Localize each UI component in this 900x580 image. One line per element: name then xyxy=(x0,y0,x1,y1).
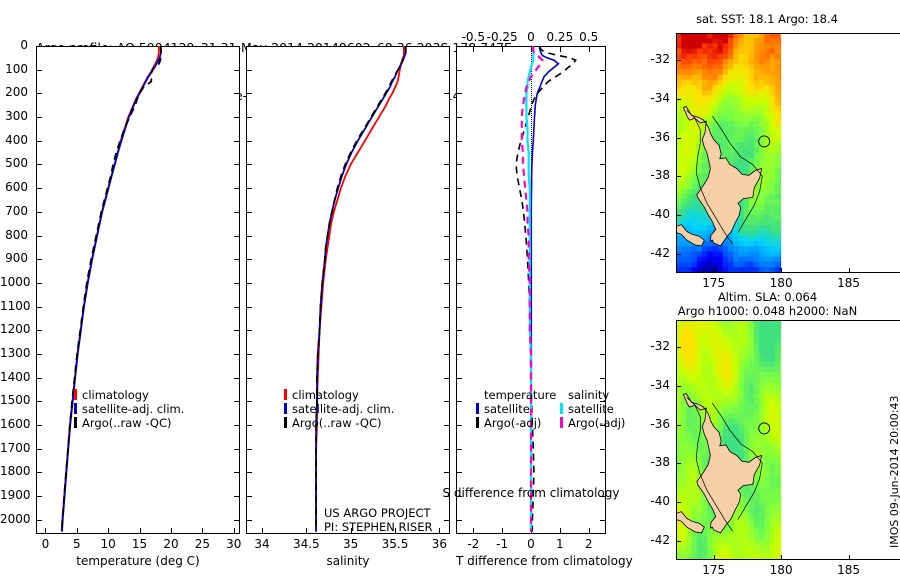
map-lat-tick xyxy=(676,502,681,503)
salinity-axis-label: salinity xyxy=(246,554,450,568)
legend-color-swatch xyxy=(284,389,287,400)
depth-tick-label: 1300 xyxy=(0,346,28,360)
map-lat-label: -42 xyxy=(640,246,670,260)
legend-color-swatch xyxy=(284,403,287,414)
legend-item-label: satellite-adj. clim. xyxy=(82,402,184,416)
map-lon-label: 180 xyxy=(756,563,806,577)
depth-tick-label: 700 xyxy=(0,204,28,218)
map-lat-label: -36 xyxy=(640,417,670,431)
legend-color-swatch xyxy=(74,389,77,400)
map-lat-tick xyxy=(676,99,681,100)
map-lat-tick xyxy=(676,254,681,255)
legend-item: Argo(..raw -QC) xyxy=(284,416,394,430)
legend-item-label: Argo(..raw -QC) xyxy=(82,416,172,430)
depth-tick-label: 900 xyxy=(0,251,28,265)
salinity-argo-line xyxy=(246,46,450,534)
legend-color-swatch xyxy=(476,417,479,428)
depth-tick-label: 1500 xyxy=(0,393,28,407)
map-lat-label: -34 xyxy=(640,378,670,392)
map-lat-tick xyxy=(676,176,681,177)
tdiff-axis-label: T difference from climatology xyxy=(456,554,606,568)
legend-item-label: Argo(-adj) xyxy=(568,416,625,430)
depth-tick-label: 200 xyxy=(0,85,28,99)
x-tick-label: 0.5 xyxy=(559,30,619,44)
map-lat-tick xyxy=(676,541,681,542)
legend-item: climatology xyxy=(74,388,184,402)
map-lat-label: -38 xyxy=(640,168,670,182)
map-lat-tick xyxy=(676,347,681,348)
map-lat-tick xyxy=(676,425,681,426)
map-lat-label: -40 xyxy=(640,494,670,508)
map-lon-label: 180 xyxy=(756,276,806,290)
footer-line-2: PI: STEPHEN RISER xyxy=(324,520,433,534)
map-lon-label: 175 xyxy=(689,276,739,290)
depth-tick-label: 1800 xyxy=(0,464,28,478)
map-lat-label: -36 xyxy=(640,130,670,144)
depth-tick-label: 300 xyxy=(0,109,28,123)
map-lat-tick xyxy=(676,138,681,139)
legend-item-label: satellite-adj. clim. xyxy=(292,402,394,416)
argo-project-footer: US ARGO PROJECTPI: STEPHEN RISER xyxy=(324,506,433,534)
map-lon-tick xyxy=(849,268,850,273)
map-lat-tick xyxy=(676,215,681,216)
depth-tick-label: 1400 xyxy=(0,370,28,384)
legend-item-label: Argo(..raw -QC) xyxy=(292,416,382,430)
legend-color-swatch xyxy=(74,417,77,428)
sst-map-frame xyxy=(676,33,900,273)
map-lat-label: -42 xyxy=(640,533,670,547)
map-lon-label: 185 xyxy=(824,276,874,290)
map-lon-label: 175 xyxy=(689,563,739,577)
map-lat-tick xyxy=(676,386,681,387)
legend-item: satellite-adj. clim. xyxy=(74,402,184,416)
footer-line-1: US ARGO PROJECT xyxy=(324,506,433,520)
map-lon-tick xyxy=(781,268,782,273)
difference-legend-column: salinitysatelliteArgo(-adj) xyxy=(560,388,625,430)
depth-tick-label: 1000 xyxy=(0,275,28,289)
map-lat-label: -32 xyxy=(640,52,670,66)
depth-tick-label: 1100 xyxy=(0,299,28,313)
legend-color-swatch xyxy=(560,417,563,428)
temperature-legend: climatologysatellite-adj. clim.Argo(..ra… xyxy=(74,388,184,430)
map-lon-tick xyxy=(714,555,715,560)
legend-item: satellite xyxy=(476,402,556,416)
map-lon-label: 185 xyxy=(824,563,874,577)
sla-map-title: Altim. SLA: 0.064 Argo h1000: 0.048 h200… xyxy=(660,290,875,318)
map-lat-label: -32 xyxy=(640,339,670,353)
legend-color-swatch xyxy=(284,417,287,428)
legend-item: satellite-adj. clim. xyxy=(284,402,394,416)
legend-item: Argo(..raw -QC) xyxy=(74,416,184,430)
legend-column-header: salinity xyxy=(568,388,625,402)
map-lon-tick xyxy=(849,555,850,560)
map-lat-tick xyxy=(676,463,681,464)
legend-column-header: temperature xyxy=(484,388,556,402)
map-lat-label: -34 xyxy=(640,91,670,105)
depth-tick-label: 500 xyxy=(0,156,28,170)
temperature-axis-label: temperature (deg C) xyxy=(36,554,240,568)
depth-tick-label: 1200 xyxy=(0,322,28,336)
depth-tick-label: 800 xyxy=(0,228,28,242)
map-lon-tick xyxy=(714,268,715,273)
legend-item-label: Argo(-adj) xyxy=(484,416,541,430)
sla-map-frame xyxy=(676,320,900,560)
depth-tick-label: 1600 xyxy=(0,417,28,431)
legend-item: satellite xyxy=(560,402,625,416)
imos-credit: IMOS 09-Jun-2014 20:00:43 xyxy=(888,395,900,548)
map-lon-tick xyxy=(781,555,782,560)
legend-item-label: climatology xyxy=(292,388,359,402)
legend-item-label: satellite xyxy=(484,402,530,416)
x-tick-label: 2 xyxy=(559,537,619,551)
temperature-argo-line xyxy=(36,46,240,534)
legend-color-swatch xyxy=(560,403,563,414)
legend-item: climatology xyxy=(284,388,394,402)
depth-tick-label: 1700 xyxy=(0,441,28,455)
map-lat-tick xyxy=(676,60,681,61)
depth-tick-label: 100 xyxy=(0,62,28,76)
depth-tick-label: 600 xyxy=(0,180,28,194)
depth-tick-label: 0 xyxy=(0,38,28,52)
sdiff-argo-line xyxy=(456,46,606,534)
legend-color-swatch xyxy=(476,403,479,414)
legend-color-swatch xyxy=(74,403,77,414)
sst-map-title: sat. SST: 18.1 Argo: 18.4 xyxy=(672,12,862,26)
depth-tick-label: 400 xyxy=(0,133,28,147)
depth-tick-label: 2000 xyxy=(0,512,28,526)
sdiff-axis-label: S difference from climatology xyxy=(424,486,638,500)
legend-item-label: satellite xyxy=(568,402,614,416)
legend-item-label: climatology xyxy=(82,388,149,402)
legend-item: Argo(-adj) xyxy=(560,416,625,430)
depth-tick-label: 1900 xyxy=(0,488,28,502)
map-lat-label: -38 xyxy=(640,455,670,469)
salinity-legend: climatologysatellite-adj. clim.Argo(..ra… xyxy=(284,388,394,430)
difference-legend-column: temperaturesatelliteArgo(-adj) xyxy=(476,388,556,430)
map-lat-label: -40 xyxy=(640,207,670,221)
legend-item: Argo(-adj) xyxy=(476,416,556,430)
